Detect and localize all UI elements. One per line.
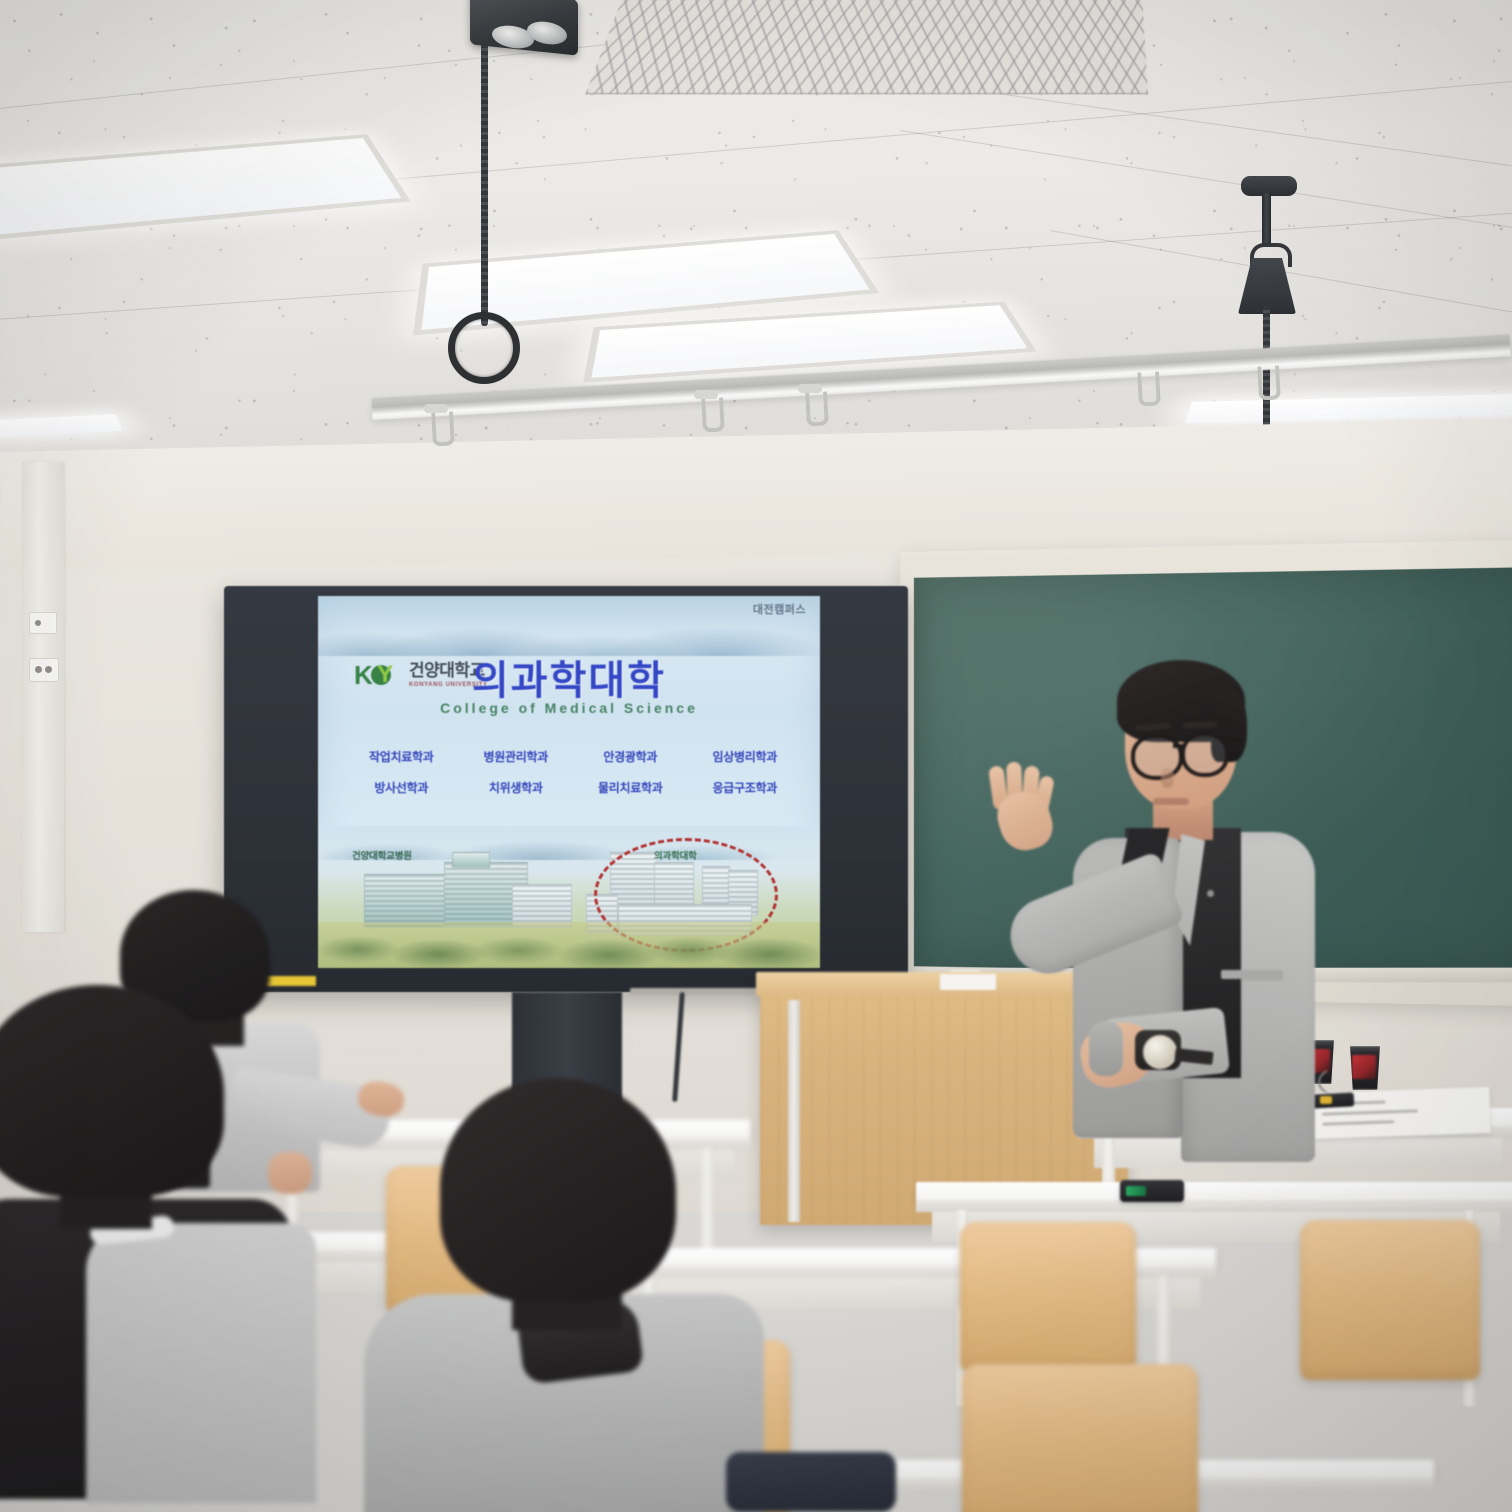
student-sleeve <box>86 1223 316 1503</box>
presenter-mouth <box>1153 798 1189 805</box>
student-hair <box>0 985 224 1197</box>
rail-hook[interactable] <box>805 391 829 426</box>
hvac-diffuser-panel <box>585 0 1148 94</box>
photo-label-hospital: 건양대학교병원 <box>352 848 412 862</box>
eyeglasses-lens-icon <box>1131 734 1183 780</box>
photo-label-college: 의과학대학 <box>654 848 697 862</box>
department-item: 작업치료학과 <box>346 748 457 765</box>
slide-title-english: College of Medical Science <box>318 700 820 716</box>
presenter-eyebrow <box>1183 721 1217 728</box>
department-item: 방사선학과 <box>346 779 457 796</box>
hospital-sign-block <box>452 852 490 868</box>
classroom-chair[interactable] <box>962 1364 1198 1512</box>
chair-back <box>1300 1220 1480 1380</box>
building-windows <box>513 885 571 927</box>
presenter-raised-hand <box>985 766 1061 852</box>
projector-pull-chain[interactable] <box>481 44 488 326</box>
wall-switch-plate[interactable] <box>29 612 57 634</box>
student-hair <box>440 1078 676 1302</box>
rail-hook[interactable] <box>431 411 455 446</box>
slide-title-korean: 의과학대학 <box>318 648 820 706</box>
rail-hook[interactable] <box>701 397 725 432</box>
department-item: 안경광학과 <box>575 748 686 765</box>
chair-back <box>962 1364 1198 1512</box>
slide-campus-tag: 대전캠퍼스 <box>753 601 806 617</box>
rail-bracket <box>424 404 448 413</box>
desk-edge <box>916 1200 1512 1212</box>
pull-chain-ring[interactable] <box>448 312 520 384</box>
presenter-jacket-button <box>1207 890 1214 897</box>
classroom-chair[interactable] <box>1300 1220 1480 1380</box>
slide-top-watercolor-band <box>318 596 820 656</box>
paper-text-line <box>1322 1109 1418 1115</box>
presenter-nose <box>1161 768 1174 788</box>
classroom-photo: 대전캠퍼스 K Y 건양대학교 KONYANG UNIVERSITY 의과학대학… <box>0 0 1512 1512</box>
rail-bracket <box>798 384 822 393</box>
student-person <box>0 985 376 1512</box>
outlet-hole-icon <box>45 666 52 673</box>
rail-bracket <box>694 390 718 399</box>
department-item: 응급구조학과 <box>690 779 801 796</box>
department-item: 병원관리학과 <box>461 748 572 765</box>
pencil-case[interactable] <box>726 1452 896 1512</box>
wristwatch <box>1135 1030 1181 1070</box>
paper-text-line <box>1322 1120 1394 1126</box>
presenter-breast-pocket <box>1221 970 1283 979</box>
presenter-sleeve-cuff <box>1089 1022 1123 1076</box>
outlet-hole-icon <box>35 666 42 673</box>
presenter-person <box>985 652 1325 1192</box>
student-person <box>392 1078 822 1512</box>
rail-hook[interactable] <box>1257 365 1281 400</box>
ceiling-mount-stem <box>1262 193 1271 247</box>
rail-hook[interactable] <box>1137 371 1161 406</box>
eyeglasses-bridge-icon <box>1173 744 1185 748</box>
cup-rim <box>1348 1046 1382 1051</box>
wall-column <box>22 462 64 932</box>
power-outlet[interactable] <box>29 658 59 682</box>
department-item: 임상병리학과 <box>690 748 801 765</box>
department-item: 치위생학과 <box>461 779 572 796</box>
classroom-chair[interactable] <box>960 1222 1136 1372</box>
department-list: 작업치료학과 병원관리학과 안경광학과 임상병리학과 방사선학과 치위생학과 물… <box>346 748 800 796</box>
watch-face-icon <box>1143 1035 1177 1069</box>
chair-back <box>960 1222 1136 1372</box>
department-item: 물리치료학과 <box>575 779 686 796</box>
switch-dot-icon <box>35 620 41 626</box>
